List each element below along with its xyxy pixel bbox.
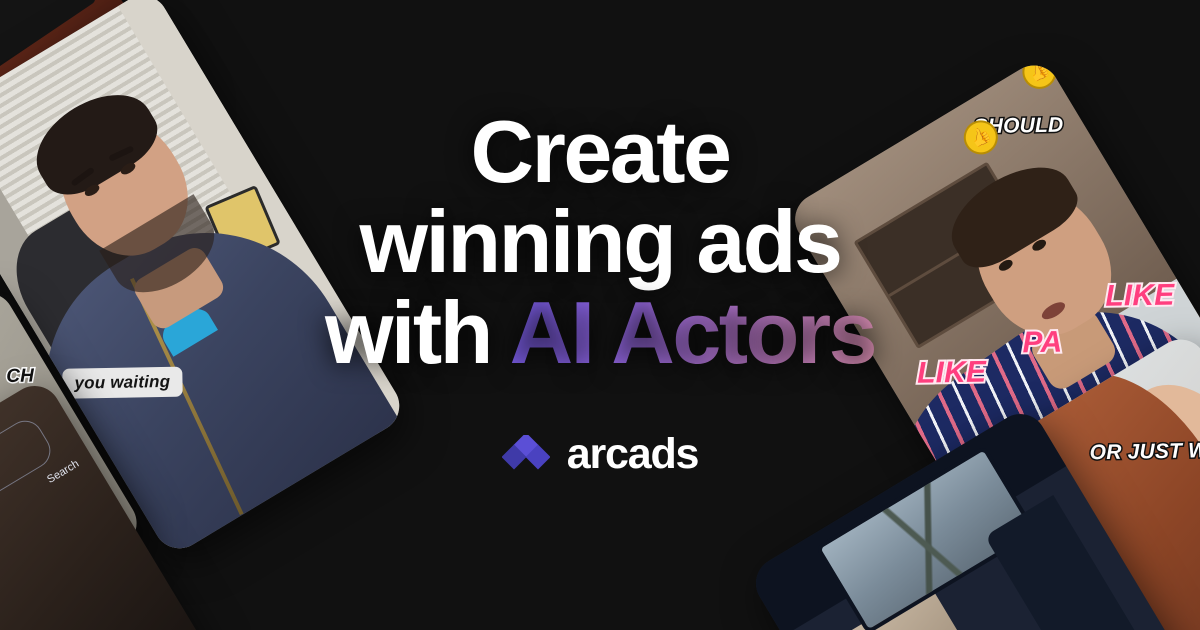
arcads-diamond-logo-icon xyxy=(502,435,550,475)
headline-gradient-text: AI Actors xyxy=(510,283,875,382)
page-title: Create winning ads with AI Actors xyxy=(325,107,875,379)
card-caption: CH xyxy=(7,366,35,388)
brand-lockup: arcads xyxy=(502,430,698,479)
hero-banner: 548 ers you waiting CH xyxy=(0,0,1200,630)
brand-wordmark: arcads xyxy=(567,430,698,479)
caption-like-left: LIKE xyxy=(917,355,987,390)
card-artwork xyxy=(0,515,71,630)
headline-line-3: with AI Actors xyxy=(325,288,875,379)
headline-line-1: Create xyxy=(325,107,875,198)
search-input[interactable]: duolingo being iconic xyxy=(0,414,57,586)
caption-like-right: LIKE xyxy=(1105,279,1175,314)
caption-pa: PA xyxy=(1022,325,1062,360)
search-button[interactable]: Search xyxy=(45,458,81,486)
card-caption: OR JUST W xyxy=(1090,439,1200,465)
card-caption: you waiting xyxy=(62,367,182,399)
